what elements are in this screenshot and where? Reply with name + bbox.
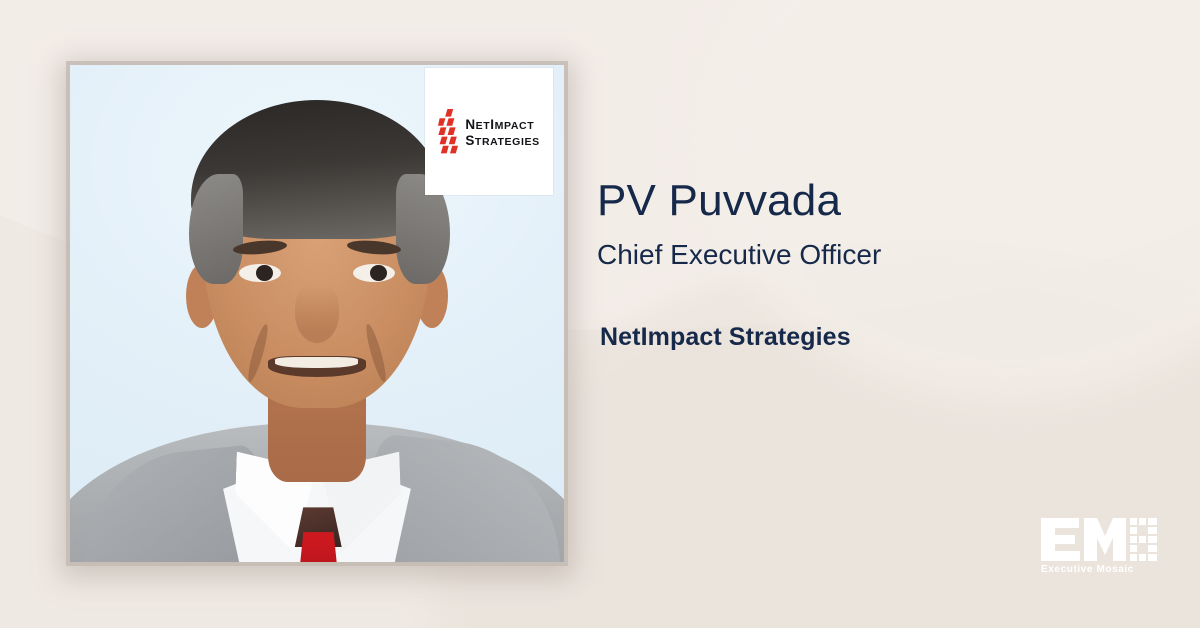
company-logo-wordmark: NETIMPACT STRATEGIES <box>465 118 539 147</box>
person-title: Chief Executive Officer <box>597 238 1157 272</box>
executive-mosaic-caption: Executive Mosaic <box>1041 564 1134 574</box>
mouth <box>268 356 367 377</box>
netimpact-logo-mark-icon <box>438 109 460 157</box>
eye-right <box>353 264 395 282</box>
teeth <box>275 357 358 368</box>
company-name: NetImpact Strategies <box>600 323 1157 352</box>
company-logo-tile: NETIMPACT STRATEGIES <box>425 68 553 195</box>
company-logo-line-2: STRATEGIES <box>465 134 539 148</box>
executive-mosaic-logo-icon: Executive Mosaic <box>1035 512 1163 574</box>
pupil-left <box>256 265 273 281</box>
eye-left <box>239 264 281 282</box>
profile-card-canvas: NETIMPACT STRATEGIES PV Puvvada Chief Ex… <box>0 0 1200 628</box>
executive-mosaic-watermark: Executive Mosaic <box>1035 512 1163 574</box>
profile-text-block: PV Puvvada Chief Executive Officer NetIm… <box>597 178 1157 352</box>
person-name: PV Puvvada <box>597 178 1157 224</box>
company-logo: NETIMPACT STRATEGIES <box>438 109 539 157</box>
nose <box>295 284 339 344</box>
necktie <box>296 532 340 562</box>
hair-temple-left <box>189 174 243 283</box>
pupil-right <box>370 265 387 281</box>
company-logo-line-1: NETIMPACT <box>465 118 539 132</box>
